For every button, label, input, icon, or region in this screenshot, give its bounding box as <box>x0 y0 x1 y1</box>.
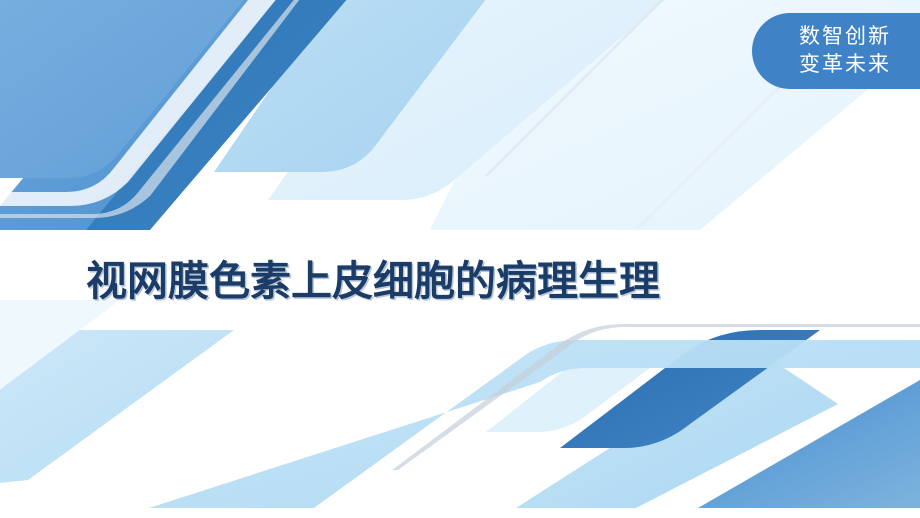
bottom-left-faint-wash <box>0 300 120 412</box>
bottom-left-pale-chevron <box>0 330 234 486</box>
top-diagonal-band-dark <box>40 0 372 230</box>
top-panel-hairline <box>0 0 322 218</box>
bottom-right-blue-triangle <box>698 380 920 508</box>
bottom-right-pale-triangle <box>516 352 838 508</box>
top-diagonal-band-light <box>214 0 508 172</box>
bottom-left-light-chevron <box>118 340 920 518</box>
top-right-hairline-a <box>484 0 694 176</box>
corner-badge-line2: 变革未来 <box>799 51 891 79</box>
corner-badge-line1: 数智创新 <box>799 23 891 51</box>
corner-badge: 数智创新 变革未来 <box>752 13 920 89</box>
top-diagonal-band-mid <box>0 0 300 230</box>
slide-canvas: 数智创新 变革未来 视网膜色素上皮细胞的病理生理 <box>0 0 920 518</box>
top-panel-white-sliver <box>0 0 300 206</box>
page-title: 视网膜色素上皮细胞的病理生理 <box>86 255 660 307</box>
bottom-white-strip <box>0 508 920 518</box>
top-left-rounded-panel <box>0 0 268 178</box>
bottom-center-deep-ribbon <box>560 330 820 448</box>
top-diagonal-band-pale <box>268 0 700 200</box>
bottom-mid-pale-ribbon <box>486 352 672 432</box>
bottom-sweep-hairline <box>392 324 920 470</box>
